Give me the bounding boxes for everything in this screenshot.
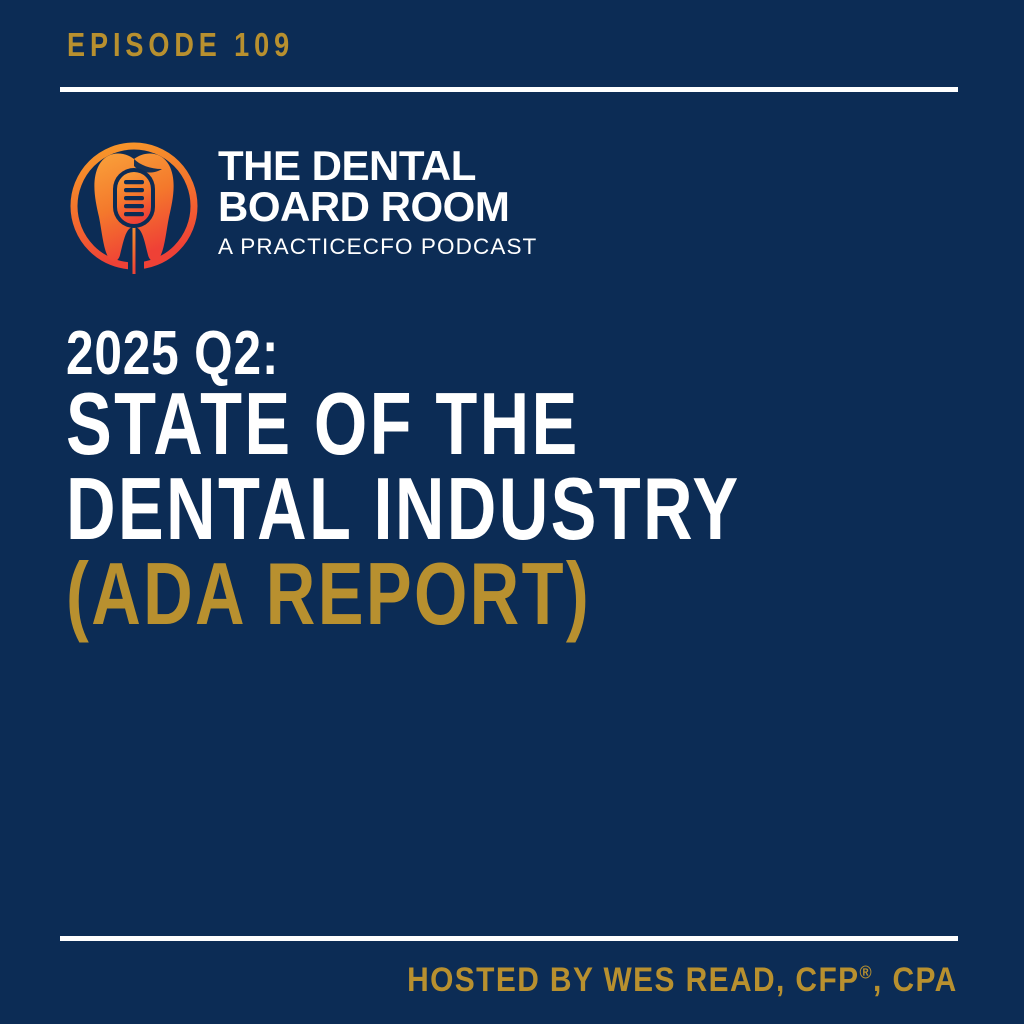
wordmark-line-2: BOARD ROOM: [218, 186, 618, 227]
bottom-divider: [60, 936, 958, 941]
wordmark: THE DENTAL BOARD ROOM A PRACTICECFO PODC…: [218, 145, 618, 259]
registered-trademark-icon: ®: [860, 962, 874, 983]
episode-label: EPISODE 109: [67, 28, 294, 61]
tooth-microphone-circle-logo-icon: [66, 135, 206, 280]
host-credit-suffix: , CPA: [873, 961, 958, 999]
top-divider: [60, 87, 958, 92]
wordmark-line-1: THE DENTAL: [218, 145, 618, 186]
podcast-cover-art: EPISODE 109: [0, 0, 1024, 1024]
episode-title: 2025 Q2: STATE OF THE DENTAL INDUSTRY (A…: [66, 325, 966, 635]
host-credit-prefix: HOSTED BY WES READ, CFP: [407, 961, 859, 999]
title-line-4-source: (ADA REPORT): [66, 554, 768, 635]
host-credit: HOSTED BY WES READ, CFP®, CPA: [407, 963, 958, 997]
wordmark-subtitle: A PRACTICECFO PODCAST: [218, 236, 618, 259]
title-line-3: DENTAL INDUSTRY: [66, 469, 768, 550]
podcast-logo: THE DENTAL BOARD ROOM A PRACTICECFO PODC…: [66, 135, 626, 280]
title-line-2: STATE OF THE: [66, 384, 768, 465]
